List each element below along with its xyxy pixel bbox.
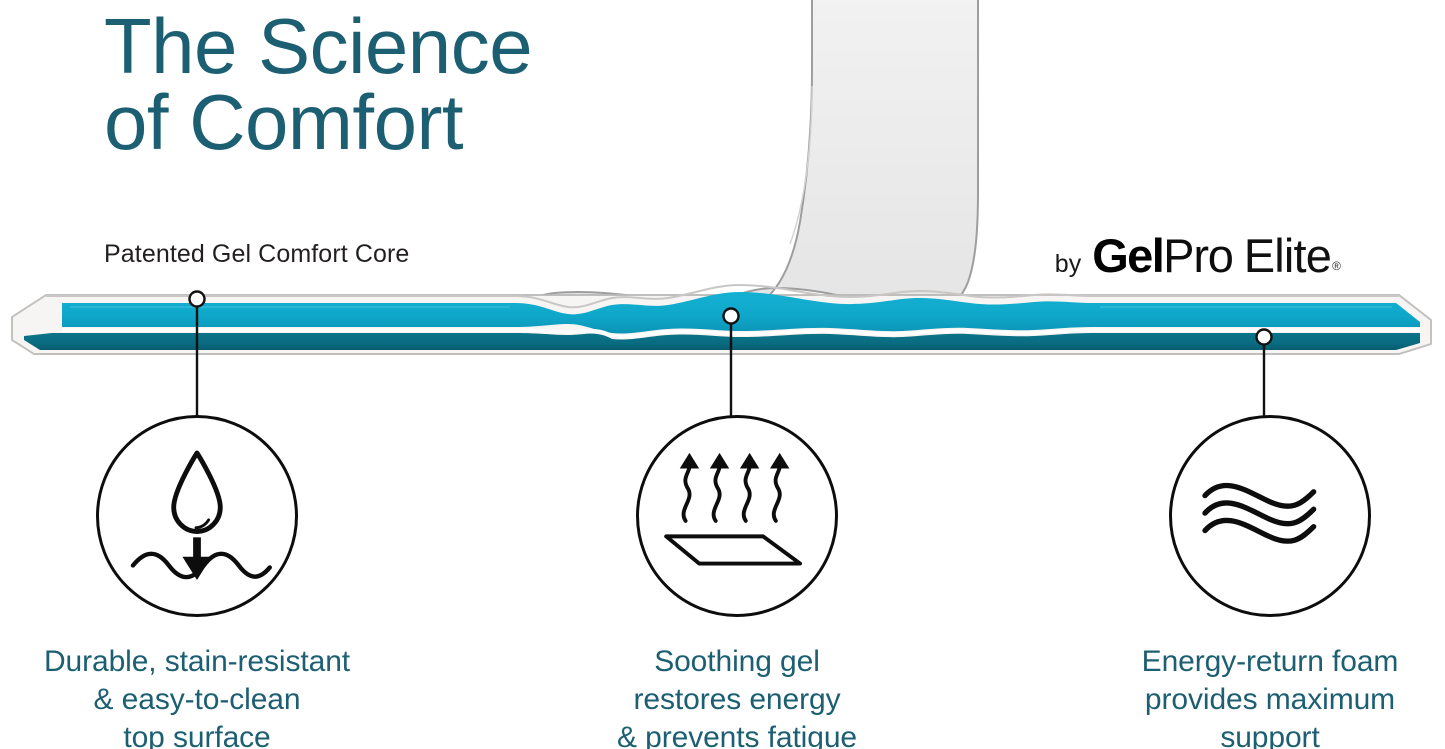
rising-energy-waves-icon — [639, 418, 835, 614]
feature-icon-circle-2 — [636, 415, 838, 617]
foam-waves-icon — [1172, 418, 1368, 614]
droplet-into-water-icon — [99, 418, 295, 614]
brand-word-pro: Pro — [1163, 228, 1233, 283]
infographic-canvas: The Science of Comfort Patented Gel Comf… — [0, 0, 1445, 749]
mat-marker-top-surface — [190, 292, 205, 307]
feature-icon-circle-1 — [96, 415, 298, 617]
feature-column-top-surface: Durable, stain-resistant & easy-to-clean… — [0, 415, 412, 749]
mat-body — [12, 285, 1431, 354]
feature-caption-2: Soothing gel restores energy & prevents … — [522, 643, 952, 749]
brand-prefix: by — [1055, 250, 1081, 279]
brand-word-elite: Elite — [1244, 228, 1331, 283]
mat-marker-gel-core — [724, 309, 739, 324]
registered-mark-icon: ® — [1332, 259, 1341, 273]
page-title: The Science of Comfort — [104, 8, 744, 161]
feature-column-gel: Soothing gel restores energy & prevents … — [522, 415, 952, 749]
feature-icon-circle-3 — [1169, 415, 1371, 617]
brand-logo: by Gel Pro Elite ® — [1055, 228, 1341, 283]
leader-lines — [190, 292, 1272, 419]
patented-core-label: Patented Gel Comfort Core — [104, 240, 409, 269]
feature-column-foam: Energy-return foam provides maximum supp… — [1055, 415, 1445, 749]
mat-marker-foam-base — [1257, 330, 1272, 345]
feature-caption-1: Durable, stain-resistant & easy-to-clean… — [0, 643, 412, 749]
feature-caption-3: Energy-return foam provides maximum supp… — [1055, 643, 1445, 749]
brand-word-gel: Gel — [1092, 228, 1163, 283]
